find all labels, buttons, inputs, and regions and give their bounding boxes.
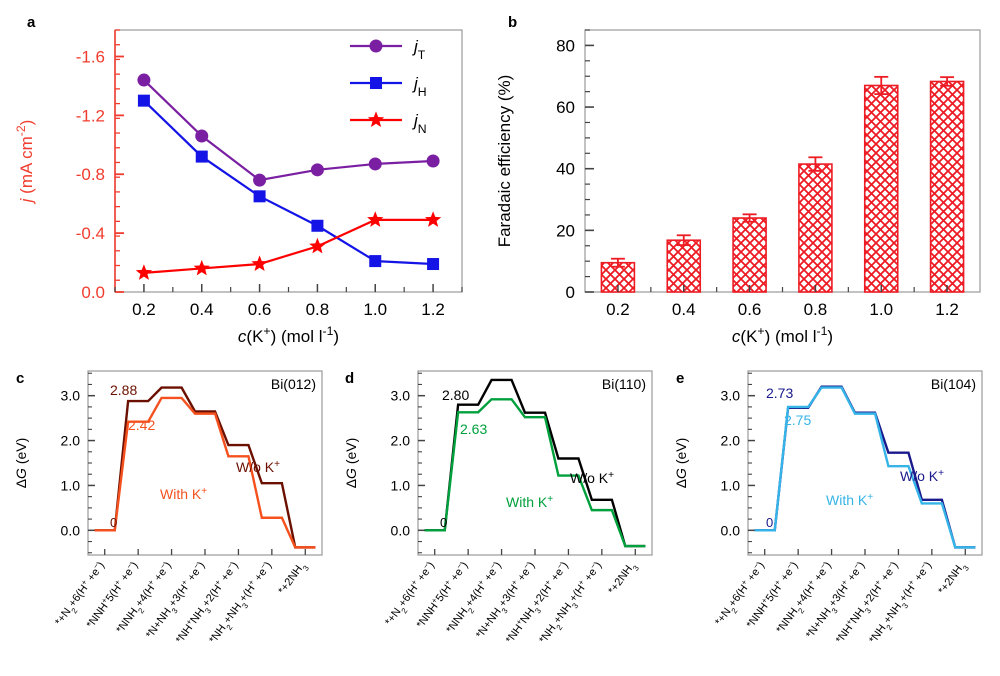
panel_c-annot-zero: 0 xyxy=(110,515,117,530)
panel_d-annot-wo: 2.80 xyxy=(442,387,469,403)
panel_c-ylabel: ΔG (eV) xyxy=(13,438,29,489)
panel_e-annot-with: 2.75 xyxy=(784,412,811,428)
panel_c-xtick: *NH2+NH3+(H+ +e−) xyxy=(205,558,277,648)
panel_d-label-wo: W/o K+ xyxy=(570,470,614,487)
data-point-circle xyxy=(311,163,324,176)
panel-a-xtick: 0.8 xyxy=(306,300,330,319)
panel_d-label-with: With K+ xyxy=(506,494,553,511)
panel-b-ytick: 20 xyxy=(556,221,575,240)
panel_e-xtick: *NH2+NH3+(H+ +e−) xyxy=(865,558,937,648)
svg-text:*+2NH3: *+2NH3 xyxy=(276,559,311,599)
svg-text:*+2NH3: *+2NH3 xyxy=(936,559,971,599)
panel-b-xtick: 1.2 xyxy=(935,300,959,319)
panel_e-ylabel: ΔG (eV) xyxy=(673,438,689,489)
panel-a-xtick: 1.0 xyxy=(363,300,387,319)
panel-b-xtick: 0.2 xyxy=(606,300,630,319)
panel-b-xlabel: c(K+) (mol l-1) xyxy=(732,324,833,346)
panel_e-xtick: *+2NH3 xyxy=(936,559,971,599)
panel_d-xtick: *+2NH3 xyxy=(606,559,641,599)
panel_e-xtick: *N+NH3+3(H+ +e−) xyxy=(802,558,870,643)
bar-group xyxy=(931,77,964,292)
panel_d-ytick: 1.0 xyxy=(391,477,411,493)
data-point-circle xyxy=(137,74,150,87)
bar-group xyxy=(733,214,766,292)
data-point-square xyxy=(138,95,150,107)
panel_e-ytick: 3.0 xyxy=(721,388,741,404)
bar-group xyxy=(799,157,832,292)
panel-a-xtick: 0.2 xyxy=(132,300,156,319)
bar-group xyxy=(865,77,898,292)
bar-group xyxy=(667,235,700,292)
data-point-circle xyxy=(427,155,440,168)
panel_c-ytick: 2.0 xyxy=(61,433,81,449)
data-point-square xyxy=(196,151,208,163)
panel-a-ytick: 0.0 xyxy=(81,283,105,302)
panel_d-ytick: 2.0 xyxy=(391,433,411,449)
panel-b-ytick: 80 xyxy=(556,36,575,55)
panel-b-chart: 0204060800.20.40.60.81.01.2Faradaic effi… xyxy=(480,0,1000,345)
panel_e-ytick: 2.0 xyxy=(721,433,741,449)
panel_c-ytick: 3.0 xyxy=(61,388,81,404)
panel_e-annot-wo: 2.73 xyxy=(766,385,793,401)
panel_c-label-with: With K+ xyxy=(160,486,207,503)
panel_c-xtick: *NNH2+4(H+ +e−) xyxy=(112,558,177,638)
panel_e-facet-title: Bi(104) xyxy=(931,376,976,392)
panel-b-xtick: 1.0 xyxy=(869,300,893,319)
panel_e-ytick: 1.0 xyxy=(721,477,741,493)
panel_d-ytick: 0.0 xyxy=(391,522,411,538)
svg-text:*NNH2+4(H+ +e−): *NNH2+4(H+ +e−) xyxy=(772,558,837,638)
panel-e-chart: 0.01.02.03.0ΔG (eV)Bi(104)2.732.750W/o K… xyxy=(660,355,1000,676)
panel_d-xtick: *NNH2+4(H+ +e−) xyxy=(442,558,507,638)
panel-b-xtick: 0.8 xyxy=(804,300,828,319)
panel-b-ytick: 40 xyxy=(556,160,575,179)
panel_d-ylabel: ΔG (eV) xyxy=(343,438,359,489)
panel-b-ylabel: Faradaic efficiency (%) xyxy=(495,75,514,248)
svg-text:*NH2+NH3+(H+ +e−): *NH2+NH3+(H+ +e−) xyxy=(865,558,937,648)
data-point-circle xyxy=(370,40,383,53)
svg-text:*+2NH3: *+2NH3 xyxy=(606,559,641,599)
panel_c-ytick: 0.0 xyxy=(61,522,81,538)
panel-a-xtick: 0.4 xyxy=(190,300,214,319)
panel-b-ytick: 60 xyxy=(556,98,575,117)
data-point-square xyxy=(311,220,323,232)
data-point-square xyxy=(254,190,266,202)
bar xyxy=(667,240,700,292)
panel_d-xtick: *N+NH3+3(H+ +e−) xyxy=(472,558,540,643)
panel-d-chart: 0.01.02.03.0ΔG (eV)Bi(110)2.802.630W/o K… xyxy=(330,355,670,676)
svg-text:*NH2+NH3+(H+ +e−): *NH2+NH3+(H+ +e−) xyxy=(205,558,277,648)
panel_d-annot-zero: 0 xyxy=(440,515,447,530)
panel_c-ytick: 1.0 xyxy=(61,477,81,493)
panel_d-facet-title: Bi(110) xyxy=(602,376,646,392)
panel_e-label-wo: W/o K+ xyxy=(900,468,944,485)
bar xyxy=(799,164,832,292)
panel-a-plot-frame xyxy=(115,30,462,292)
svg-text:*N+NH3+3(H+ +e−): *N+NH3+3(H+ +e−) xyxy=(142,558,210,643)
data-point-circle xyxy=(195,129,208,142)
panel_d-annot-with: 2.63 xyxy=(460,421,487,437)
data-point-square xyxy=(427,258,439,270)
bar xyxy=(733,218,766,292)
panel_e-xtick: *NNH2+4(H+ +e−) xyxy=(772,558,837,638)
svg-text:*NH2+NH3+(H+ +e−): *NH2+NH3+(H+ +e−) xyxy=(535,558,607,648)
panel-a-xtick: 0.6 xyxy=(248,300,272,319)
panel-a-xtick: 1.2 xyxy=(421,300,445,319)
panel-a-ytick: -0.4 xyxy=(76,224,105,243)
panel-b-plot-frame xyxy=(585,30,980,292)
data-point-circle xyxy=(369,157,382,170)
panel-e: 0.01.02.03.0ΔG (eV)Bi(104)2.732.750W/o K… xyxy=(660,355,1000,676)
data-point-square xyxy=(370,77,382,89)
panel_c-facet-title: Bi(012) xyxy=(271,376,316,392)
panel_d-xtick: *NH2+NH3+(H+ +e−) xyxy=(535,558,607,648)
svg-text:*N+NH3+3(H+ +e−): *N+NH3+3(H+ +e−) xyxy=(802,558,870,643)
panel_c-xtick: *N+NH3+3(H+ +e−) xyxy=(142,558,210,643)
panel-b-ytick: 0 xyxy=(566,283,575,302)
svg-text:*N+NH3+3(H+ +e−): *N+NH3+3(H+ +e−) xyxy=(472,558,540,643)
panel-a-chart: -1.6-1.2-0.8-0.40.00.20.40.60.81.01.2j (… xyxy=(0,0,480,345)
panel-a-ylabel: j (mA cm-2) xyxy=(14,120,36,205)
panel_c-annot-with: 2.42 xyxy=(128,417,155,433)
panel-a: -1.6-1.2-0.8-0.40.00.20.40.60.81.01.2j (… xyxy=(0,0,480,345)
panel_e-annot-zero: 0 xyxy=(766,515,773,530)
bar xyxy=(865,85,898,292)
bar xyxy=(931,81,964,292)
panel-c: 0.01.02.03.0ΔG (eV)Bi(012)2.882.420W/o K… xyxy=(0,355,340,676)
panel-b: 0204060800.20.40.60.81.01.2Faradaic effi… xyxy=(480,0,1000,345)
panel-a-ytick: -1.6 xyxy=(76,47,105,66)
panel-a-ytick: -1.2 xyxy=(76,106,105,125)
data-point-square xyxy=(369,255,381,267)
panel-b-xtick: 0.6 xyxy=(738,300,762,319)
svg-text:*NNH2+4(H+ +e−): *NNH2+4(H+ +e−) xyxy=(112,558,177,638)
panel-a-ytick: -0.8 xyxy=(76,165,105,184)
data-point-circle xyxy=(253,174,266,187)
panel-a-xlabel: c(K+) (mol l-1) xyxy=(238,324,339,346)
panel-d: 0.01.02.03.0ΔG (eV)Bi(110)2.802.630W/o K… xyxy=(330,355,670,676)
panel_c-xtick: *+2NH3 xyxy=(276,559,311,599)
panel_e-ytick: 0.0 xyxy=(721,522,741,538)
panel_c-annot-wo: 2.88 xyxy=(110,382,137,398)
panel-b-xtick: 0.4 xyxy=(672,300,696,319)
panel_e-label-with: With K+ xyxy=(826,492,873,509)
svg-text:*NNH2+4(H+ +e−): *NNH2+4(H+ +e−) xyxy=(442,558,507,638)
panel_c-label-wo: W/o K+ xyxy=(236,459,280,476)
panel_d-ytick: 3.0 xyxy=(391,388,411,404)
panel-c-chart: 0.01.02.03.0ΔG (eV)Bi(012)2.882.420W/o K… xyxy=(0,355,340,676)
